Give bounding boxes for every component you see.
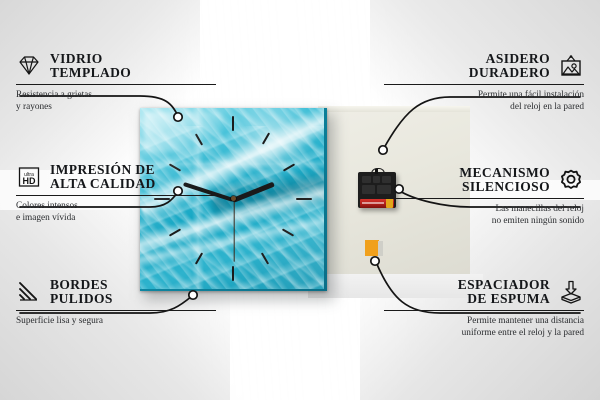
feature-title-line2: DURADERO [469, 66, 550, 80]
feature-header: ESPACIADOR DE ESPUMA [384, 278, 584, 307]
infographic-canvas: VIDRIO TEMPLADO Resistencia a grietas y … [0, 0, 600, 400]
feature-title-line1: MECANISMO [459, 166, 550, 180]
feature-impresion-alta-calidad[interactable]: ultra HD IMPRESIÓN DE ALTA CALIDAD Color… [16, 163, 216, 225]
connector-dot-espaciador [371, 257, 379, 265]
feature-vidrio-templado[interactable]: VIDRIO TEMPLADO Resistencia a grietas y … [16, 52, 216, 114]
connector-dot-asidero [379, 146, 387, 154]
feature-title-line2: TEMPLADO [50, 66, 131, 80]
feature-description: Colores intensos e imagen vívida [16, 200, 216, 225]
feature-titles: ASIDERO DURADERO [469, 52, 550, 81]
feature-title-line2: PULIDOS [50, 292, 113, 306]
gear-icon [558, 168, 584, 192]
feature-bordes-pulidos[interactable]: BORDES PULIDOS Superficie lisa y segura [16, 278, 216, 327]
feature-titles: MECANISMO SILENCIOSO [459, 166, 550, 195]
feature-divider [16, 84, 216, 85]
ultra-hd-icon-bottom-label: HD [23, 176, 36, 186]
ultra-hd-icon: ultra HD [16, 165, 42, 189]
feature-title-line1: ESPACIADOR [458, 278, 550, 292]
feature-description: Superficie lisa y segura [16, 315, 216, 327]
feature-title-line1: BORDES [50, 278, 108, 292]
feature-title-line2: ALTA CALIDAD [50, 177, 156, 191]
foam-spacer-arrow-icon [558, 280, 584, 304]
polished-edges-icon [16, 280, 42, 304]
feature-titles: ESPACIADOR DE ESPUMA [458, 278, 550, 307]
feature-header: BORDES PULIDOS [16, 278, 216, 307]
feature-titles: VIDRIO TEMPLADO [50, 52, 131, 81]
feature-titles: IMPRESIÓN DE ALTA CALIDAD [50, 163, 156, 192]
feature-header: ultra HD IMPRESIÓN DE ALTA CALIDAD [16, 163, 216, 192]
feature-titles: BORDES PULIDOS [50, 278, 113, 307]
feature-title-line2: SILENCIOSO [462, 180, 550, 194]
feature-divider [16, 195, 216, 196]
feature-header: VIDRIO TEMPLADO [16, 52, 216, 81]
feature-espaciador-de-espuma[interactable]: ESPACIADOR DE ESPUMA Permite mantener un… [384, 278, 584, 340]
feature-divider [384, 310, 584, 311]
feature-header: ASIDERO DURADERO [384, 52, 584, 81]
feature-title-line1: IMPRESIÓN DE [50, 163, 155, 177]
connector-dot-vidrio [174, 113, 182, 121]
feature-description: Permite una fácil instalación del reloj … [384, 89, 584, 114]
feature-divider [384, 84, 584, 85]
feature-title-line1: VIDRIO [50, 52, 103, 66]
picture-frame-hanger-icon [558, 54, 584, 78]
feature-title-line1: ASIDERO [486, 52, 550, 66]
feature-divider [384, 198, 584, 199]
feature-description: Permite mantener una distancia uniforme … [384, 315, 584, 340]
feature-header: MECANISMO SILENCIOSO [384, 166, 584, 195]
feature-description: Resistencia a grietas y rayones [16, 89, 216, 114]
feature-asidero-duradero[interactable]: ASIDERO DURADERO Permite una fácil insta… [384, 52, 584, 114]
diamond-icon [16, 54, 42, 78]
feature-title-line2: DE ESPUMA [467, 292, 550, 306]
feature-divider [16, 310, 216, 311]
feature-description: Las manecillas del reloj no emiten ningú… [384, 203, 584, 228]
feature-mecanismo-silencioso[interactable]: MECANISMO SILENCIOSO Las manecillas del … [384, 166, 584, 228]
